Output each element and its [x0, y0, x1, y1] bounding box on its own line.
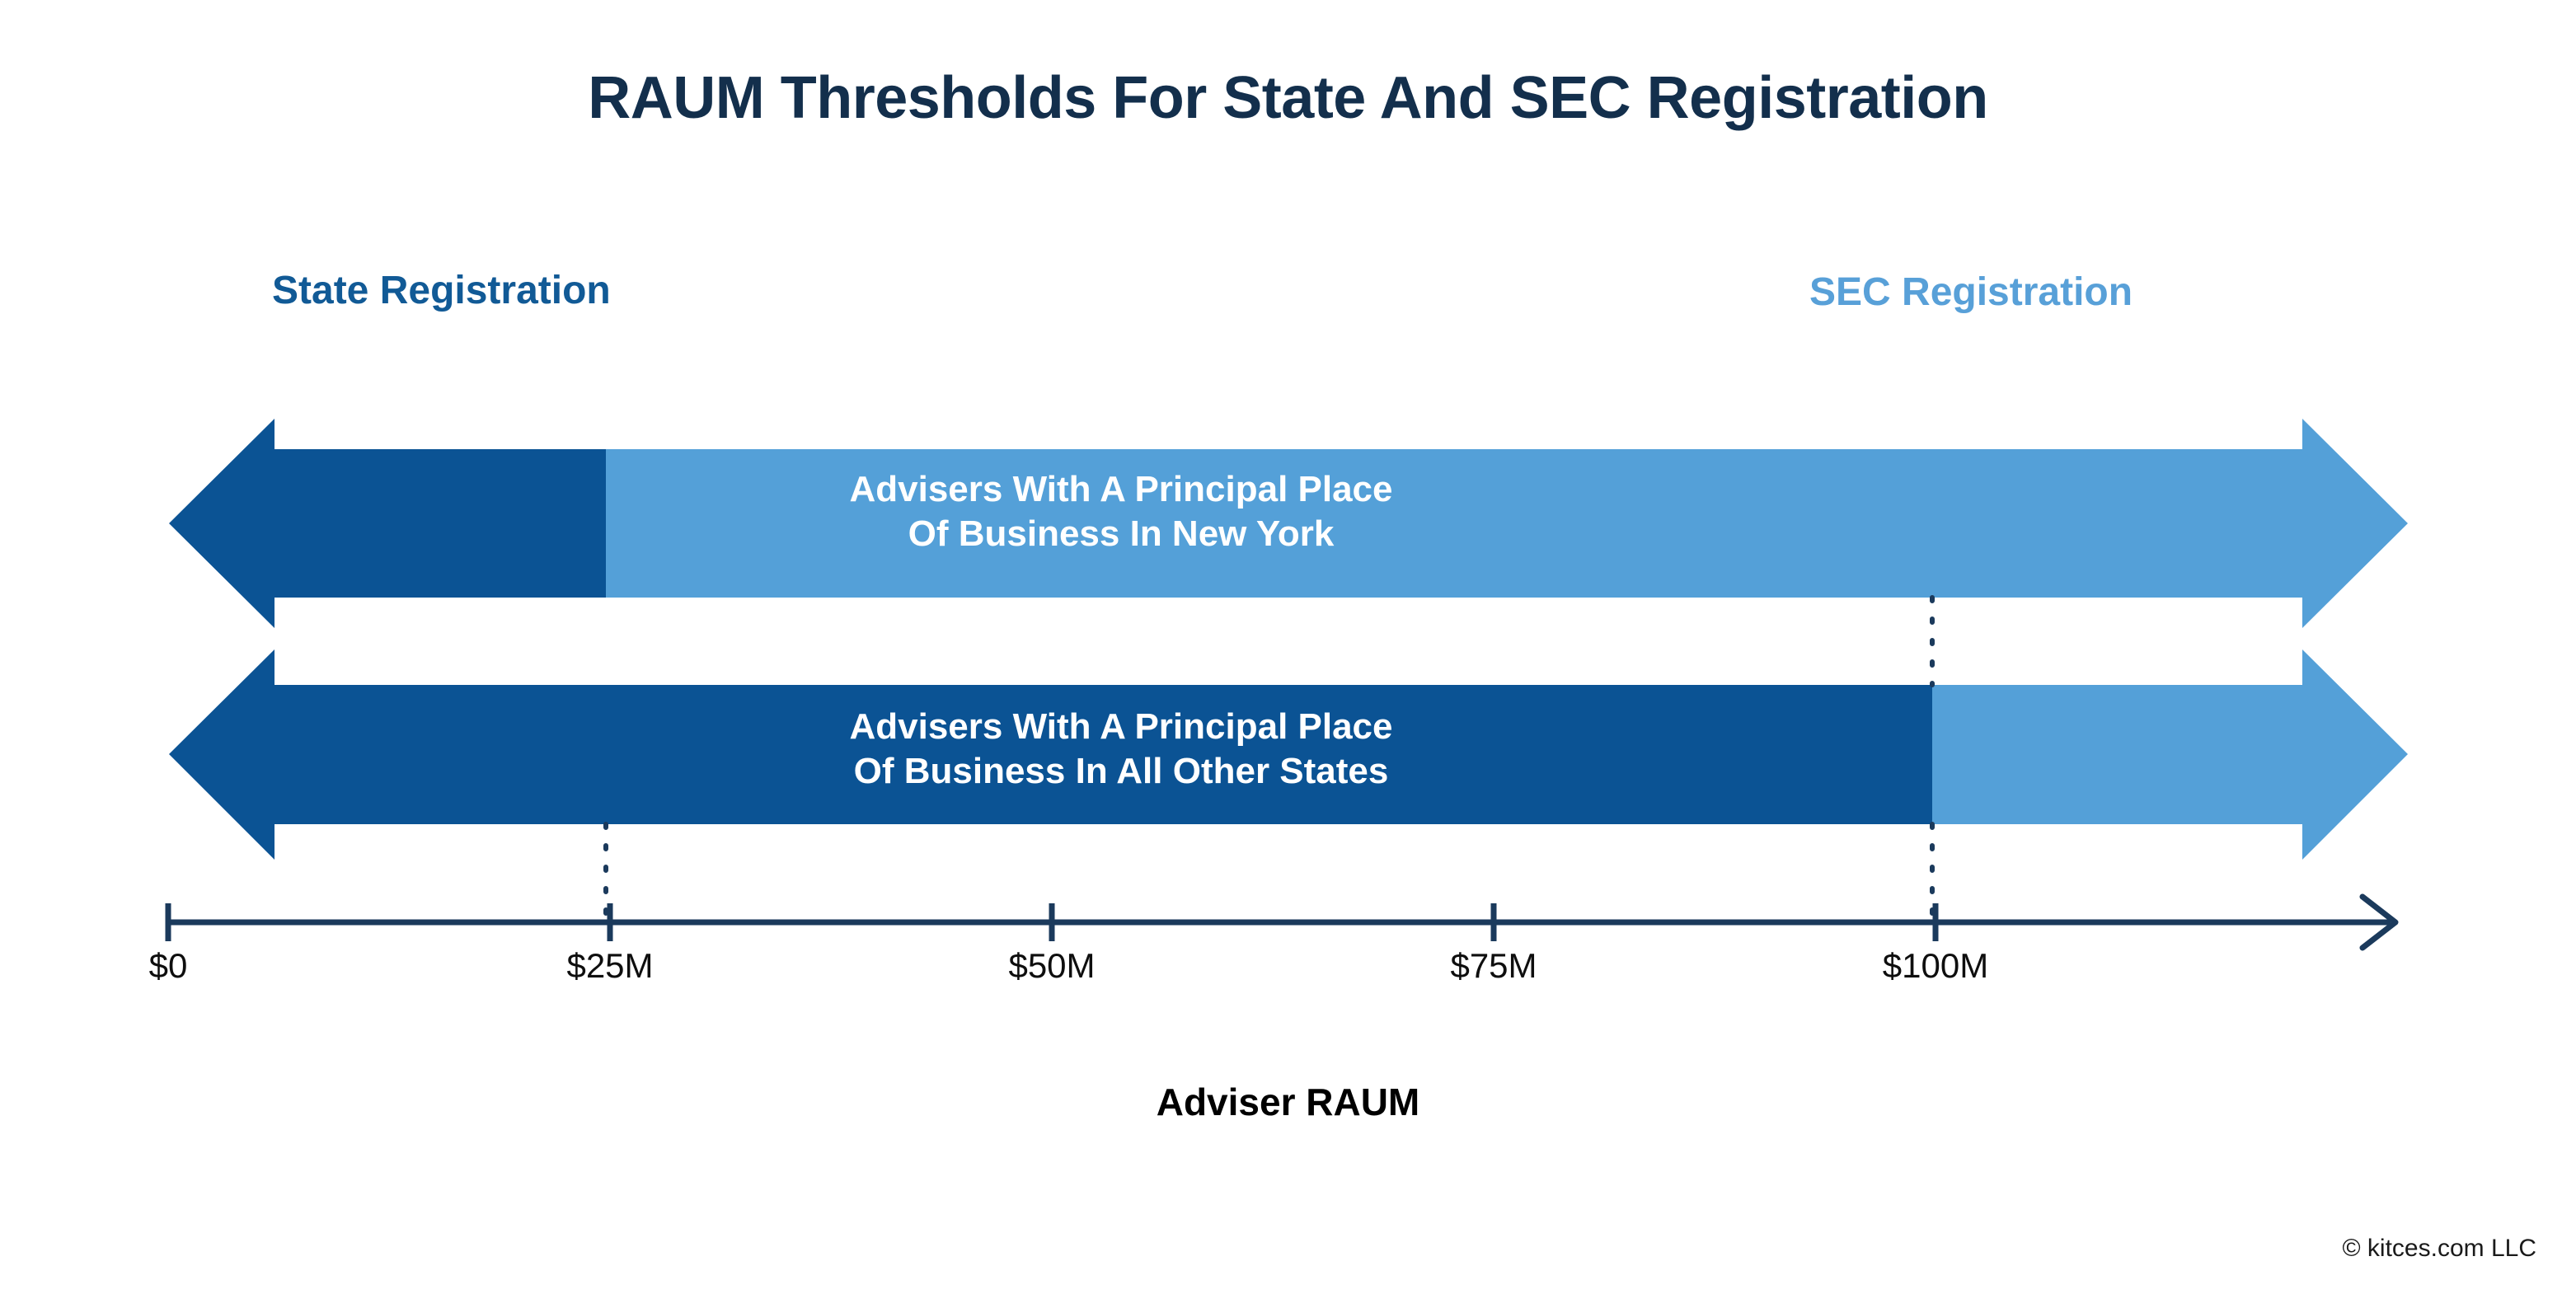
bar-1-state-segment	[169, 419, 606, 628]
x-axis-tick-label-75m: $75M	[1450, 946, 1537, 986]
x-axis-tick-label-0: $0	[149, 946, 188, 986]
x-axis-tick-label-50m: $50M	[1008, 946, 1095, 986]
bar-2-sec-segment	[1932, 649, 2408, 860]
copyright-notice: © kitces.com LLC	[2342, 1235, 2536, 1263]
bar-2-state-segment	[169, 649, 1932, 860]
bar-1-sec-segment	[606, 419, 2408, 628]
x-axis-tick-label-25m: $25M	[566, 946, 653, 986]
x-axis-tick-label-100m: $100M	[1883, 946, 1988, 986]
infographic-canvas: RAUM Thresholds For State And SEC Regist…	[0, 0, 2576, 1308]
x-axis-title: Adviser RAUM	[0, 1080, 2576, 1124]
